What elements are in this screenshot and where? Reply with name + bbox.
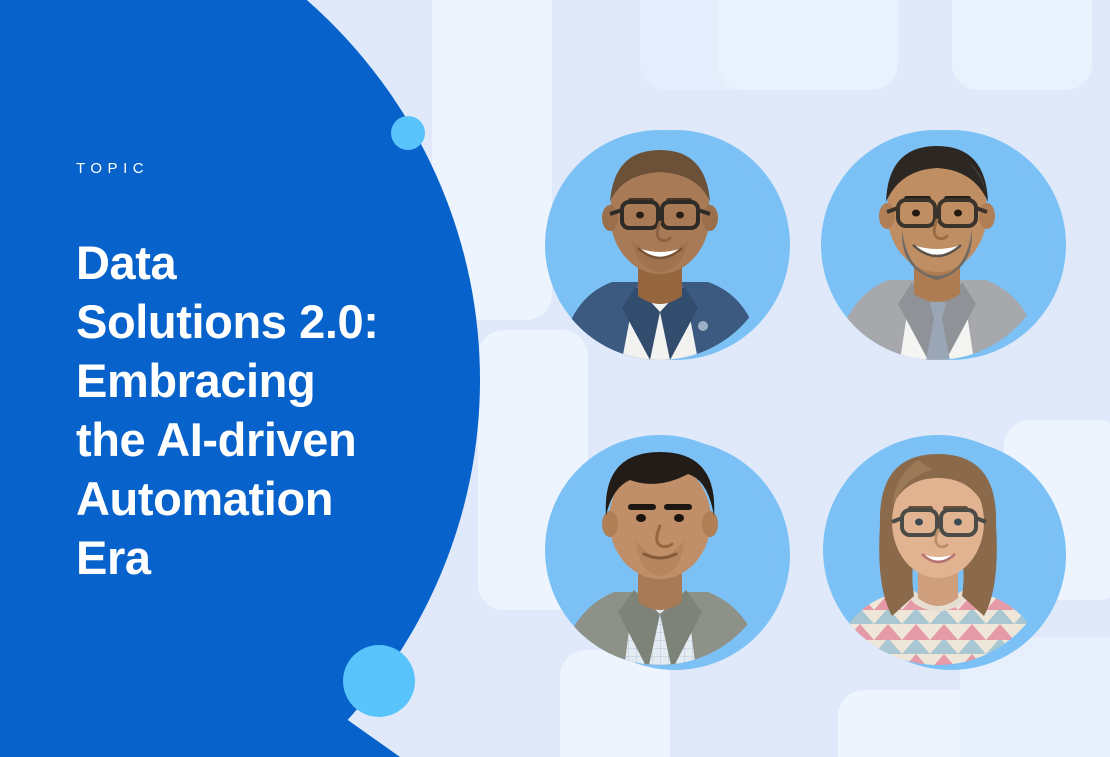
avatar-photo	[540, 400, 780, 670]
speaker-avatar-3[interactable]	[540, 400, 780, 660]
speaker-avatar-4[interactable]	[818, 400, 1058, 660]
avatar-photo	[818, 400, 1058, 670]
accent-dot-top-icon	[391, 116, 425, 150]
headline-line: Embracing	[76, 351, 436, 410]
slide-canvas: TOPIC Data Solutions 2.0: Embracing the …	[0, 0, 1110, 757]
topic-eyebrow-label: TOPIC	[76, 160, 436, 177]
headline-line: Era	[76, 528, 436, 587]
speaker-portrait-grid	[520, 70, 1100, 710]
avatar-photo	[818, 90, 1058, 360]
headline-line: the AI-driven	[76, 410, 436, 469]
headline-line: Data	[76, 233, 436, 292]
headline-line: Solutions 2.0:	[76, 292, 436, 351]
speaker-avatar-1[interactable]	[540, 90, 780, 350]
avatar-photo	[540, 90, 780, 360]
speaker-avatar-2[interactable]	[818, 90, 1058, 350]
title-block: TOPIC Data Solutions 2.0: Embracing the …	[76, 160, 436, 587]
accent-dot-bottom-icon	[343, 645, 415, 717]
page-title: Data Solutions 2.0: Embracing the AI-dri…	[76, 233, 436, 587]
headline-line: Automation	[76, 469, 436, 528]
